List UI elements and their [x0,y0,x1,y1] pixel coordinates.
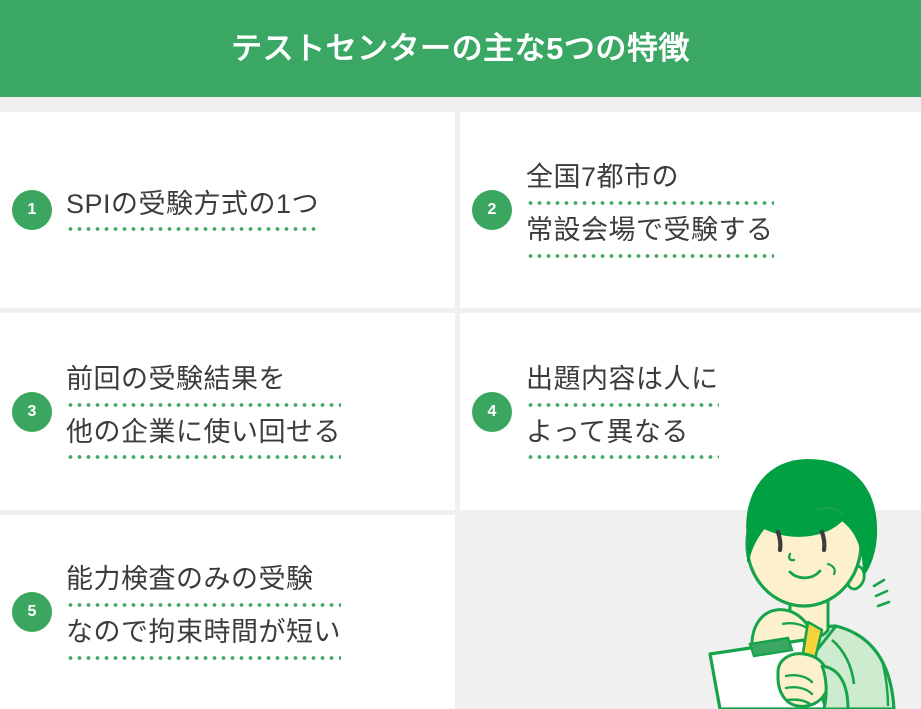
feature-line-text: 他の企業に使い回せる [66,417,341,449]
feature-line: よって異なる [526,417,719,460]
dotted-underline [66,227,319,231]
feature-line-text: 能力検査のみの受験 [66,564,341,596]
feature-card-2-lines: 全国7都市の 常設会場で受験する [526,162,774,258]
feature-line: 出題内容は人に [526,364,719,407]
dotted-underline [526,455,719,459]
dotted-underline [526,254,774,258]
feature-card-4: 4 出題内容は人に よって異なる [460,313,921,515]
feature-card-5-lines: 能力検査のみの受験 なので拘束時間が短い [66,564,341,660]
feature-card-5: 5 能力検査のみの受験 なので拘束時間が短い [0,515,460,709]
feature-line: 他の企業に使い回せる [66,417,341,460]
number-badge-5: 5 [12,592,52,632]
page-title: テストセンターの主な5つの特徴 [231,33,690,64]
feature-line-text: よって異なる [526,417,719,449]
feature-card-3-lines: 前回の受験結果を 他の企業に使い回せる [66,364,341,460]
feature-card-3-inner: 3 前回の受験結果を 他の企業に使い回せる [12,364,341,460]
dotted-underline [66,656,341,660]
number-badge-1: 1 [12,190,52,230]
feature-line: 常設会場で受験する [526,215,774,258]
dotted-underline [526,403,719,407]
feature-line: 全国7都市の [526,162,774,205]
feature-line-text: 全国7都市の [526,162,774,194]
feature-card-grid: 1 SPIの受験方式の1つ 2 全国7都市の [0,112,921,709]
feature-card-4-lines: 出題内容は人に よって異なる [526,364,719,460]
feature-line: 前回の受験結果を [66,364,341,407]
dotted-underline [66,603,341,607]
feature-card-1-inner: 1 SPIの受験方式の1つ [12,189,319,232]
feature-card-1-lines: SPIの受験方式の1つ [66,189,319,232]
feature-line-text: 出題内容は人に [526,364,719,396]
feature-line: なので拘束時間が短い [66,617,341,660]
number-badge-4: 4 [472,392,512,432]
dotted-underline [66,403,341,407]
feature-card-5-inner: 5 能力検査のみの受験 なので拘束時間が短い [12,564,341,660]
feature-card-3: 3 前回の受験結果を 他の企業に使い回せる [0,313,460,515]
feature-line-text: 常設会場で受験する [526,215,774,247]
feature-card-4-inner: 4 出題内容は人に よって異なる [472,364,719,460]
dotted-underline [526,201,774,205]
header-banner: テストセンターの主な5つの特徴 [0,0,921,97]
feature-line: SPIの受験方式の1つ [66,189,319,232]
feature-line-text: なので拘束時間が短い [66,617,341,649]
feature-line: 能力検査のみの受験 [66,564,341,607]
number-badge-3: 3 [12,392,52,432]
illustration-cell [460,515,921,709]
dotted-underline [66,455,341,459]
feature-card-2: 2 全国7都市の 常設会場で受験する [460,112,921,313]
feature-card-1: 1 SPIの受験方式の1つ [0,112,460,313]
infographic-root: テストセンターの主な5つの特徴 1 SPIの受験方式の1つ 2 [0,0,921,709]
feature-line-text: SPIの受験方式の1つ [66,189,319,221]
number-badge-2: 2 [472,190,512,230]
feature-card-2-inner: 2 全国7都市の 常設会場で受験する [472,162,774,258]
feature-line-text: 前回の受験結果を [66,364,341,396]
